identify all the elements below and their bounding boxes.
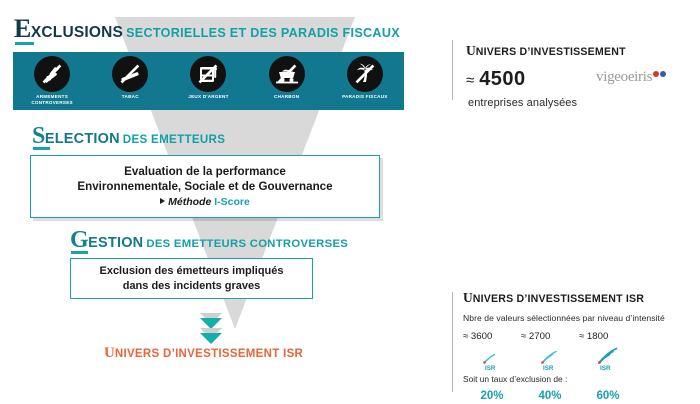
svg-text:ISR: ISR: [543, 365, 554, 372]
heading-selection-bold: ELECTION: [45, 131, 120, 147]
exclusion-item-charbon[interactable]: CHARBON: [250, 56, 324, 100]
heading-exclusions-cap: E: [14, 14, 31, 43]
vigeo-eiris-logo: vigeoeiris: [596, 68, 666, 86]
chevron-teal-2: [200, 333, 222, 344]
isr-value-3: ≈ 1800: [579, 331, 637, 342]
isr-signal-3-icon: ISR: [592, 346, 624, 372]
panel-isr-divider: [452, 292, 453, 392]
exclusion-label-charbon: CHARBON: [274, 94, 299, 100]
panel-isr-title: UNIVERS D’INVESTISSEMENT ISR: [463, 290, 665, 306]
logo-dot-blue: [660, 71, 666, 77]
logo-word-vigeo: vigeo: [596, 69, 628, 85]
crossed-palm-tree-icon: [347, 56, 383, 92]
isr-signal-cell-2[interactable]: ISR: [521, 347, 579, 372]
panel-isr-title-rest: NIVERS D’INVESTISSEMENT ISR: [473, 293, 644, 305]
panel-universe-value: 4500: [479, 68, 526, 90]
isr-signal-2-icon: ISR: [535, 347, 565, 372]
crossed-coal-wagon-icon: [269, 56, 305, 92]
crossed-slot-machine-icon: [190, 56, 226, 92]
panel-isr-icons-row: ISR ISR: [463, 346, 637, 372]
isr-value-2: ≈ 2700: [521, 331, 579, 342]
outcome-cap: U: [104, 345, 115, 361]
heading-gestion-rest: DES EMETTEURS CONTROVERSES: [146, 238, 348, 250]
exclusion-label-paradis: PARADIS FISCAUX: [342, 94, 388, 100]
infographic-root: EXCLUSIONSSECTORIELLES ET DES PARADIS FI…: [0, 0, 700, 404]
exclusion-item-jeux[interactable]: JEUX D'ARGENT: [171, 56, 245, 100]
outcome-label: UNIVERS D’INVESTISSEMENT ISR: [104, 344, 303, 362]
heading-exclusions-rest: SECTORIELLES ET DES PARADIS FISCAUX: [126, 26, 400, 40]
logo-dot-red: [653, 71, 659, 77]
panel-isr: UNIVERS D’INVESTISSEMENT ISR Nbre de val…: [463, 290, 665, 402]
isr-rate-1: 20%: [463, 390, 521, 402]
heading-selection: SELECTIONDES EMETTEURS: [32, 124, 225, 148]
crossed-cigarette-icon: [112, 56, 148, 92]
approx-symbol: ≈: [466, 72, 475, 89]
svg-text:ISR: ISR: [485, 365, 496, 372]
heading-gestion: GESTIONDES EMETTEURS CONTROVERSES: [70, 228, 348, 252]
outcome-text-2: INVESTISSEMENT ISR: [175, 348, 303, 360]
crossed-weapon-icon: [34, 56, 70, 92]
panel-isr-rate-caption: Soit un taux d’exclusion de :: [463, 374, 665, 384]
exclusion-icons-row: ARMEMENTSCONTROVERSES TABAC: [13, 52, 404, 110]
selection-method-row: Méthode I-Score: [160, 196, 250, 208]
panel-universe-title-cap: U: [466, 43, 476, 58]
isr-signal-cell-1[interactable]: ISR: [463, 347, 521, 372]
panel-isr-subtitle: Nbre de valeurs sélectionnées par niveau…: [463, 313, 665, 323]
isr-signal-1-icon: ISR: [477, 347, 507, 372]
triangle-right-icon: [160, 198, 165, 204]
exclusions-band: ARMEMENTSCONTROVERSES TABAC: [13, 52, 404, 110]
logo-word-eiris: eiris: [628, 69, 652, 85]
panel-universe-caption: entreprises analysées: [468, 97, 626, 109]
selection-box-line2: Environnementale, Sociale et de Gouverna…: [77, 180, 332, 195]
panel-universe-title: UNIVERS D’INVESTISSEMENT: [466, 43, 626, 59]
exclusion-item-armements[interactable]: ARMEMENTSCONTROVERSES: [15, 56, 89, 105]
isr-value-1: ≈ 3600: [463, 331, 521, 342]
panel-universe-title-rest: NIVERS D’INVESTISSEMENT: [476, 46, 626, 58]
panel-universe-divider: [452, 40, 453, 100]
heading-gestion-bold: ESTION: [88, 235, 143, 251]
exclusion-item-tabac[interactable]: TABAC: [93, 56, 167, 100]
exclusion-label-tabac: TABAC: [122, 94, 139, 100]
heading-exclusions: EXCLUSIONSSECTORIELLES ET DES PARADIS FI…: [14, 16, 400, 42]
isr-rate-2: 40%: [521, 390, 579, 402]
gestion-box-line2: dans des incidents graves: [123, 279, 261, 293]
exclusion-item-paradis[interactable]: PARADIS FISCAUX: [328, 56, 402, 100]
svg-text:ISR: ISR: [600, 365, 611, 372]
heading-gestion-cap: G: [70, 227, 88, 253]
selection-method-label: Méthode: [168, 196, 211, 208]
isr-rate-3: 60%: [579, 390, 637, 402]
outcome-text-1: NIVERS D: [115, 348, 172, 360]
selection-box-line1: Evaluation de la performance: [124, 165, 286, 180]
panel-isr-title-cap: U: [463, 290, 473, 305]
heading-selection-cap: S: [32, 123, 45, 149]
heading-exclusions-bold: XCLUSIONS: [31, 24, 123, 41]
exclusion-label-jeux: JEUX D'ARGENT: [188, 94, 228, 100]
exclusion-label-armements: ARMEMENTSCONTROVERSES: [31, 94, 73, 105]
isr-signal-cell-3[interactable]: ISR: [579, 346, 637, 372]
gestion-box: Exclusion des émetteurs impliqués dans d…: [70, 258, 313, 299]
heading-selection-rest: DES EMETTEURS: [123, 133, 225, 146]
panel-isr-values-row: ≈ 3600 ≈ 2700 ≈ 1800: [463, 331, 637, 342]
gestion-box-line1: Exclusion des émetteurs impliqués: [99, 264, 283, 278]
panel-isr-rates-row: 20% 40% 60%: [463, 390, 637, 402]
selection-method-value: I-Score: [214, 196, 250, 208]
selection-box: Evaluation de la performance Environneme…: [30, 155, 380, 218]
